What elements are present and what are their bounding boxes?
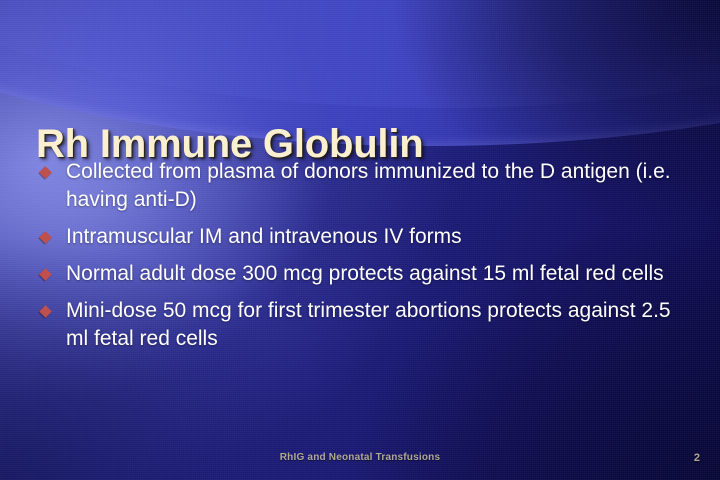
bullet-item: Intramuscular IM and intravenous IV form… [36,223,684,251]
bullet-item: Mini-dose 50 mcg for first trimester abo… [36,297,684,353]
presentation-slide: Rh Immune Globulin Collected from plasma… [0,0,720,480]
bullet-item-label: Collected from plasma of donors immunize… [66,158,684,214]
bullet-item-label: Mini-dose 50 mcg for first trimester abo… [66,297,684,353]
diamond-bullet-icon [39,268,52,281]
slide-footer: RhIG and Neonatal Transfusions [0,452,720,463]
slide-content: Rh Immune Globulin Collected from plasma… [0,0,720,480]
bullet-item: Collected from plasma of donors immunize… [36,158,684,214]
diamond-bullet-icon [39,231,52,244]
diamond-bullet-icon [39,305,52,318]
slide-number: 2 [694,452,700,464]
bullet-item-label: Normal adult dose 300 mcg protects again… [66,260,684,288]
slide-bullet-list: Collected from plasma of donors immunize… [36,158,684,353]
bullet-item: Normal adult dose 300 mcg protects again… [36,260,684,288]
bullet-item-label: Intramuscular IM and intravenous IV form… [66,223,684,251]
diamond-bullet-icon [39,166,52,179]
